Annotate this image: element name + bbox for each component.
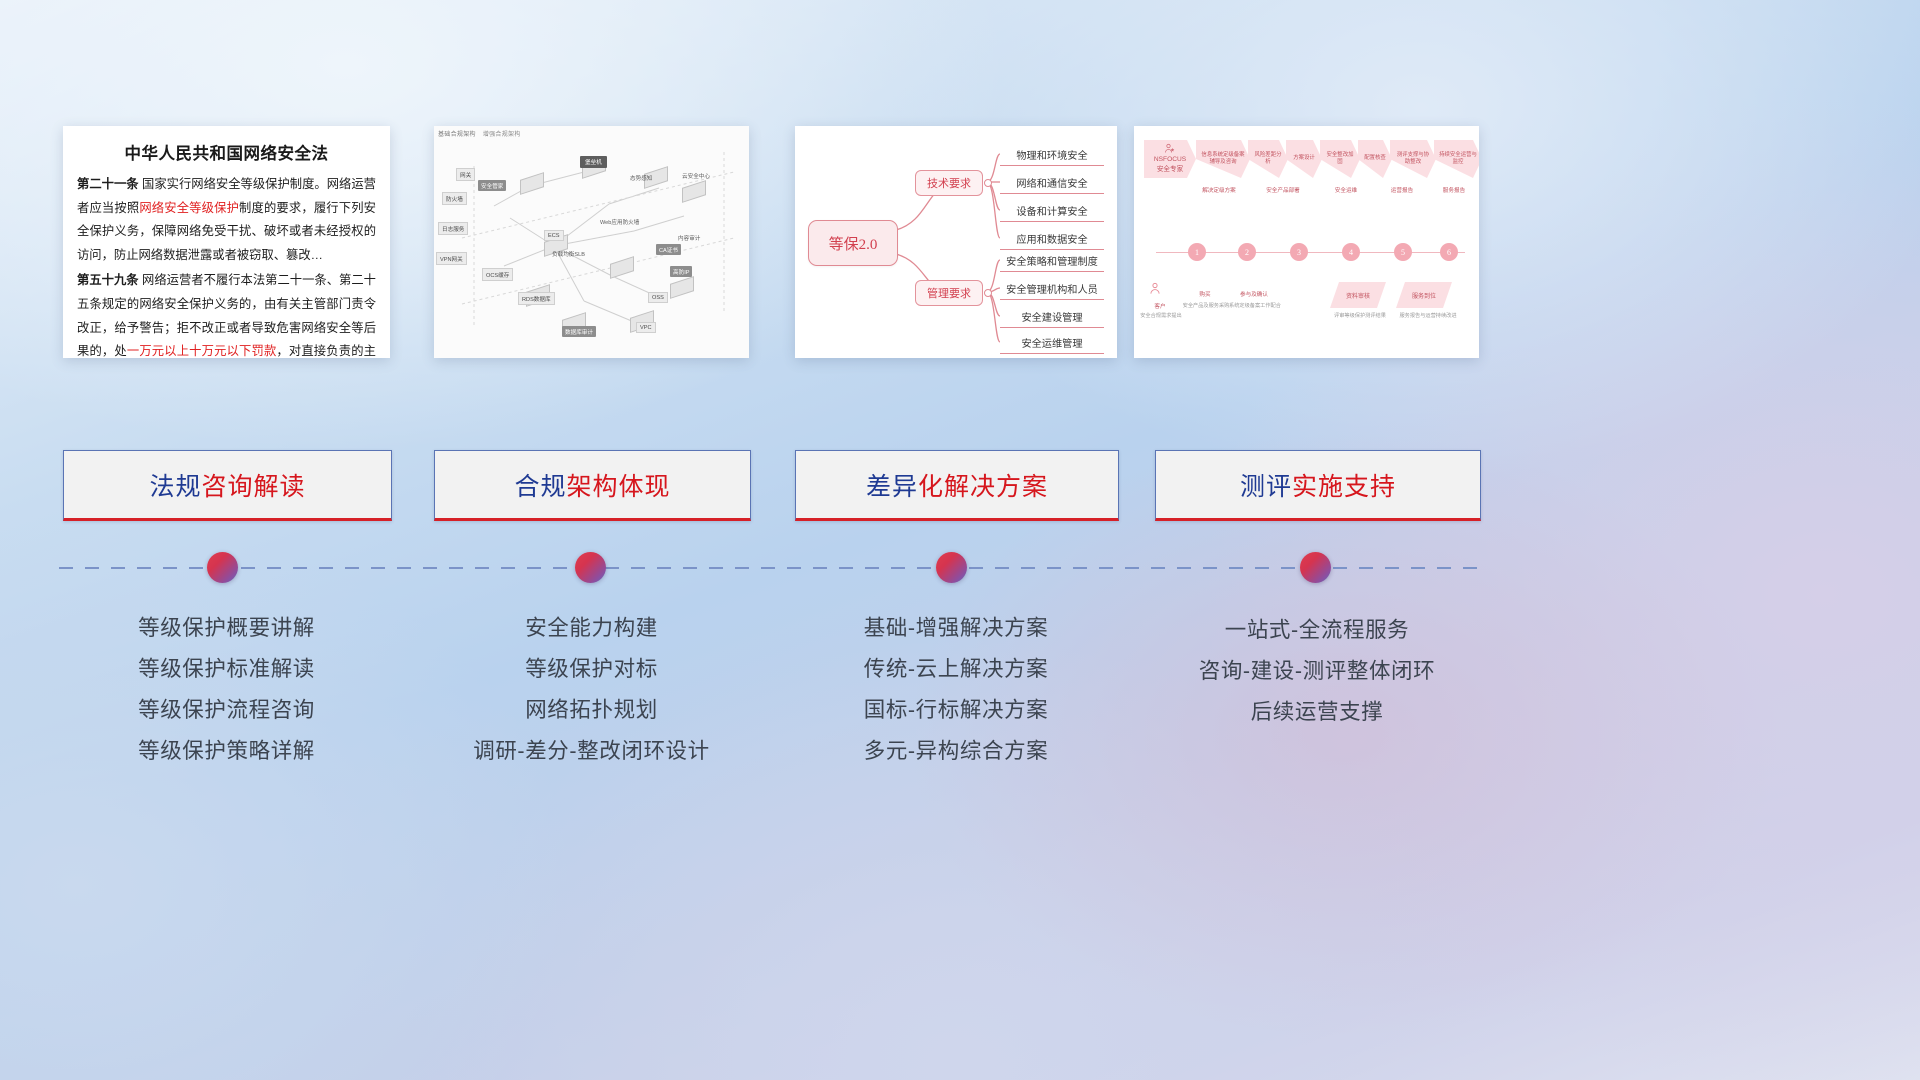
flow-bottom-chip: 资料审核 [1330,282,1386,308]
arch-node-label: OCS缓存 [482,268,513,281]
flow-milestone-label: 服务报告 [1434,186,1474,194]
arch-node-label: 数据库审计 [562,326,596,337]
card-service-flow: NSFOCUS 安全专家 信息系统定级备案辅导及咨询 风险差距分析 方案设计 安… [1134,126,1479,358]
flow-canvas: NSFOCUS 安全专家 信息系统定级备案辅导及咨询 风险差距分析 方案设计 安… [1134,126,1479,358]
arch-node-label: 负载均衡SLB [552,250,585,258]
flow-milestone-label: 运营报告 [1382,186,1422,194]
slide-root: 中华人民共和国网络安全法 第二十一条 国家实行网络安全等级保护制度。网络运营者应… [0,0,1920,1080]
arch-node-label: 安全管家 [478,180,506,191]
flow-actor-chip: NSFOCUS 安全专家 [1144,140,1196,178]
timeline-node-2[interactable] [575,552,606,583]
list-item: 后续运营支撑 [1155,692,1479,733]
list-item: 传统-云上解决方案 [795,649,1117,690]
list-item: 国标-行标解决方案 [795,690,1117,731]
mindmap-leaf: 安全建设管理 [1000,306,1104,328]
timeline-dashed-line [59,567,1485,569]
law-title: 中华人民共和国网络安全法 [77,140,376,164]
customer-icon [1148,282,1162,301]
bullet-column-4: 一站式-全流程服务 咨询-建设-测评整体闭环 后续运营支撑 [1155,610,1479,733]
timeline-node-4[interactable] [1300,552,1331,583]
header-title-4-blue: 测评 [1240,473,1292,501]
flow-milestone-dot: 5 [1394,243,1412,261]
ribbon-left-label: 基础合规架构 [438,132,476,138]
flow-step-chip: 安全整改加固 [1320,140,1360,178]
ribbon-right-label: 增强合规架构 [483,132,521,138]
mindmap-branch-management: 管理要求 [915,280,983,306]
flow-step-chip: 信息系统定级备案辅导及咨询 [1196,140,1250,178]
mindmap-canvas: 等保2.0 技术要求 物理和环境安全 网络和通信安全 设备和计算安全 应用和数据… [795,126,1117,358]
mindmap-root: 等保2.0 [808,220,898,266]
article-59-red-a: 一万元以上十万元以下罚款 [127,344,277,358]
list-item: 多元-异构综合方案 [795,731,1117,772]
arch-node-label: 日志服务 [438,222,468,235]
arch-node-label: 高防IP [670,266,692,277]
header-title-2-red: 架构体现 [567,473,671,501]
header-title-1: 法规咨询解读 [149,467,305,503]
list-item: 一站式-全流程服务 [1155,610,1479,651]
flow-bottom-sub: 系统定级备案工作配合 [1222,302,1288,309]
header-title-3-blue: 差异 [866,473,918,501]
mindmap-branch-technical: 技术要求 [915,170,983,196]
card-mindmap: 等保2.0 技术要求 物理和环境安全 网络和通信安全 设备和计算安全 应用和数据… [795,126,1117,358]
flow-milestone-dot: 3 [1290,243,1308,261]
flow-milestone-dot: 4 [1342,243,1360,261]
header-title-2: 合规架构体现 [514,467,670,503]
flow-bottom-label: 参与及确认 [1228,290,1280,298]
flow-top-band: NSFOCUS 安全专家 信息系统定级备案辅导及咨询 风险差距分析 方案设计 安… [1144,140,1473,178]
header-title-3: 差异化解决方案 [866,467,1048,503]
timeline-node-1[interactable] [207,552,238,583]
flow-actor-title: NSFOCUS [1154,156,1186,165]
architecture-ribbon: 基础合规架构增强合规架构 [438,129,521,138]
law-body: 中华人民共和国网络安全法 第二十一条 国家实行网络安全等级保护制度。网络运营者应… [63,126,390,358]
arch-node-label: 态势感知 [630,174,652,182]
card-law-text: 中华人民共和国网络安全法 第二十一条 国家实行网络安全等级保护制度。网络运营者应… [63,126,390,358]
flow-actor-sub: 安全专家 [1157,166,1183,175]
list-item: 调研-差分-整改闭环设计 [434,731,749,772]
list-item: 等级保护标准解读 [63,649,390,690]
arch-node-label: VPN网关 [436,252,467,265]
header-title-2-blue: 合规 [514,473,566,501]
mindmap-leaf: 设备和计算安全 [1000,200,1104,222]
list-item: 基础-增强解决方案 [795,608,1117,649]
arch-node-label: VPC [636,322,656,333]
arch-node-label: Web应用防火墙 [600,218,639,226]
list-item: 等级保护概要讲解 [63,608,390,649]
flow-bottom-sub: 服务报告与运营持续改进 [1390,312,1466,319]
mindmap-knob-icon [984,289,992,297]
flow-step-chip: 持续安全运营与监控 [1434,140,1479,178]
flow-step-chip: 配置核查 [1358,140,1392,178]
article-59-label: 第五十九条 [77,273,139,287]
arch-node-label: 堡垒机 [580,156,607,168]
flow-milestone-dot: 6 [1440,243,1458,261]
flow-bottom-label: 购买 [1188,290,1222,298]
mindmap-leaf: 应用和数据安全 [1000,228,1104,250]
list-item: 等级保护流程咨询 [63,690,390,731]
list-item: 等级保护策略详解 [63,731,390,772]
bullet-column-3: 基础-增强解决方案 传统-云上解决方案 国标-行标解决方案 多元-异构综合方案 [795,608,1117,772]
header-box-1[interactable]: 法规咨询解读 [63,450,392,521]
article-21-red: 网络安全等级保护 [139,201,239,215]
mindmap-leaf: 网络和通信安全 [1000,172,1104,194]
law-article-59: 第五十九条 网络运营者不履行本法第二十一条、第二十五条规定的网络安全保护义务的，… [77,269,376,358]
header-title-4-red: 实施支持 [1292,473,1396,501]
list-item: 咨询-建设-测评整体闭环 [1155,651,1479,692]
flow-step-chip: 方案设计 [1286,140,1322,178]
flow-milestone-label: 安全运维 [1326,186,1366,194]
header-box-4[interactable]: 测评实施支持 [1155,450,1481,521]
flow-step-chip: 测评支撑与协助整改 [1390,140,1436,178]
header-title-1-blue: 法规 [149,473,201,501]
flow-bottom-sub: 评审等级保护测评结果 [1322,312,1398,319]
arch-node-label: 网关 [456,168,475,181]
arch-node-label: OSS [648,292,668,303]
article-21-label: 第二十一条 [77,177,139,191]
arch-node-label: ECS [544,230,564,241]
list-item: 网络拓扑规划 [434,690,749,731]
header-title-4: 测评实施支持 [1240,467,1396,503]
flow-step-chip: 风险差距分析 [1248,140,1288,178]
arch-node-label: RDS数据库 [518,292,555,305]
flow-milestone-label: 解决定级方案 [1192,186,1246,194]
flow-customer-sub: 安全合规需求提出 [1134,312,1188,319]
architecture-canvas: 基础合规架构增强合规架构 [434,126,749,358]
bullet-column-2: 安全能力构建 等级保护对标 网络拓扑规划 调研-差分-整改闭环设计 [434,608,749,772]
list-item: 安全能力构建 [434,608,749,649]
header-box-3[interactable]: 差异化解决方案 [795,450,1119,521]
arch-node-label: 云安全中心 [682,172,710,180]
arch-node-label: 内容审计 [678,234,700,242]
security-expert-icon [1164,143,1176,155]
law-article-21: 第二十一条 国家实行网络安全等级保护制度。网络运营者应当按照网络安全等级保护制度… [77,173,376,267]
flow-milestone-dot: 1 [1188,243,1206,261]
timeline-node-3[interactable] [936,552,967,583]
mindmap-leaf: 安全策略和管理制度 [1000,250,1104,272]
arch-node-label: CA证书 [656,244,681,255]
mindmap-leaf: 物理和环境安全 [1000,144,1104,166]
flow-bottom-chip: 服务到位 [1396,282,1452,308]
mindmap-leaf: 安全管理机构和人员 [1000,278,1104,300]
flow-milestone-label: 安全产品部署 [1256,186,1310,194]
mindmap-knob-icon [984,179,992,187]
arch-node-label: 防火墙 [442,192,467,205]
list-item: 等级保护对标 [434,649,749,690]
bullet-column-1: 等级保护概要讲解 等级保护标准解读 等级保护流程咨询 等级保护策略详解 [63,608,390,772]
mindmap-leaf: 安全运维管理 [1000,332,1104,354]
flow-milestone-dot: 2 [1238,243,1256,261]
card-architecture-diagram: 基础合规架构增强合规架构 [434,126,749,358]
header-title-1-red: 咨询解读 [202,473,306,501]
header-title-3-red: 化解决方案 [918,473,1048,501]
header-box-2[interactable]: 合规架构体现 [434,450,751,521]
